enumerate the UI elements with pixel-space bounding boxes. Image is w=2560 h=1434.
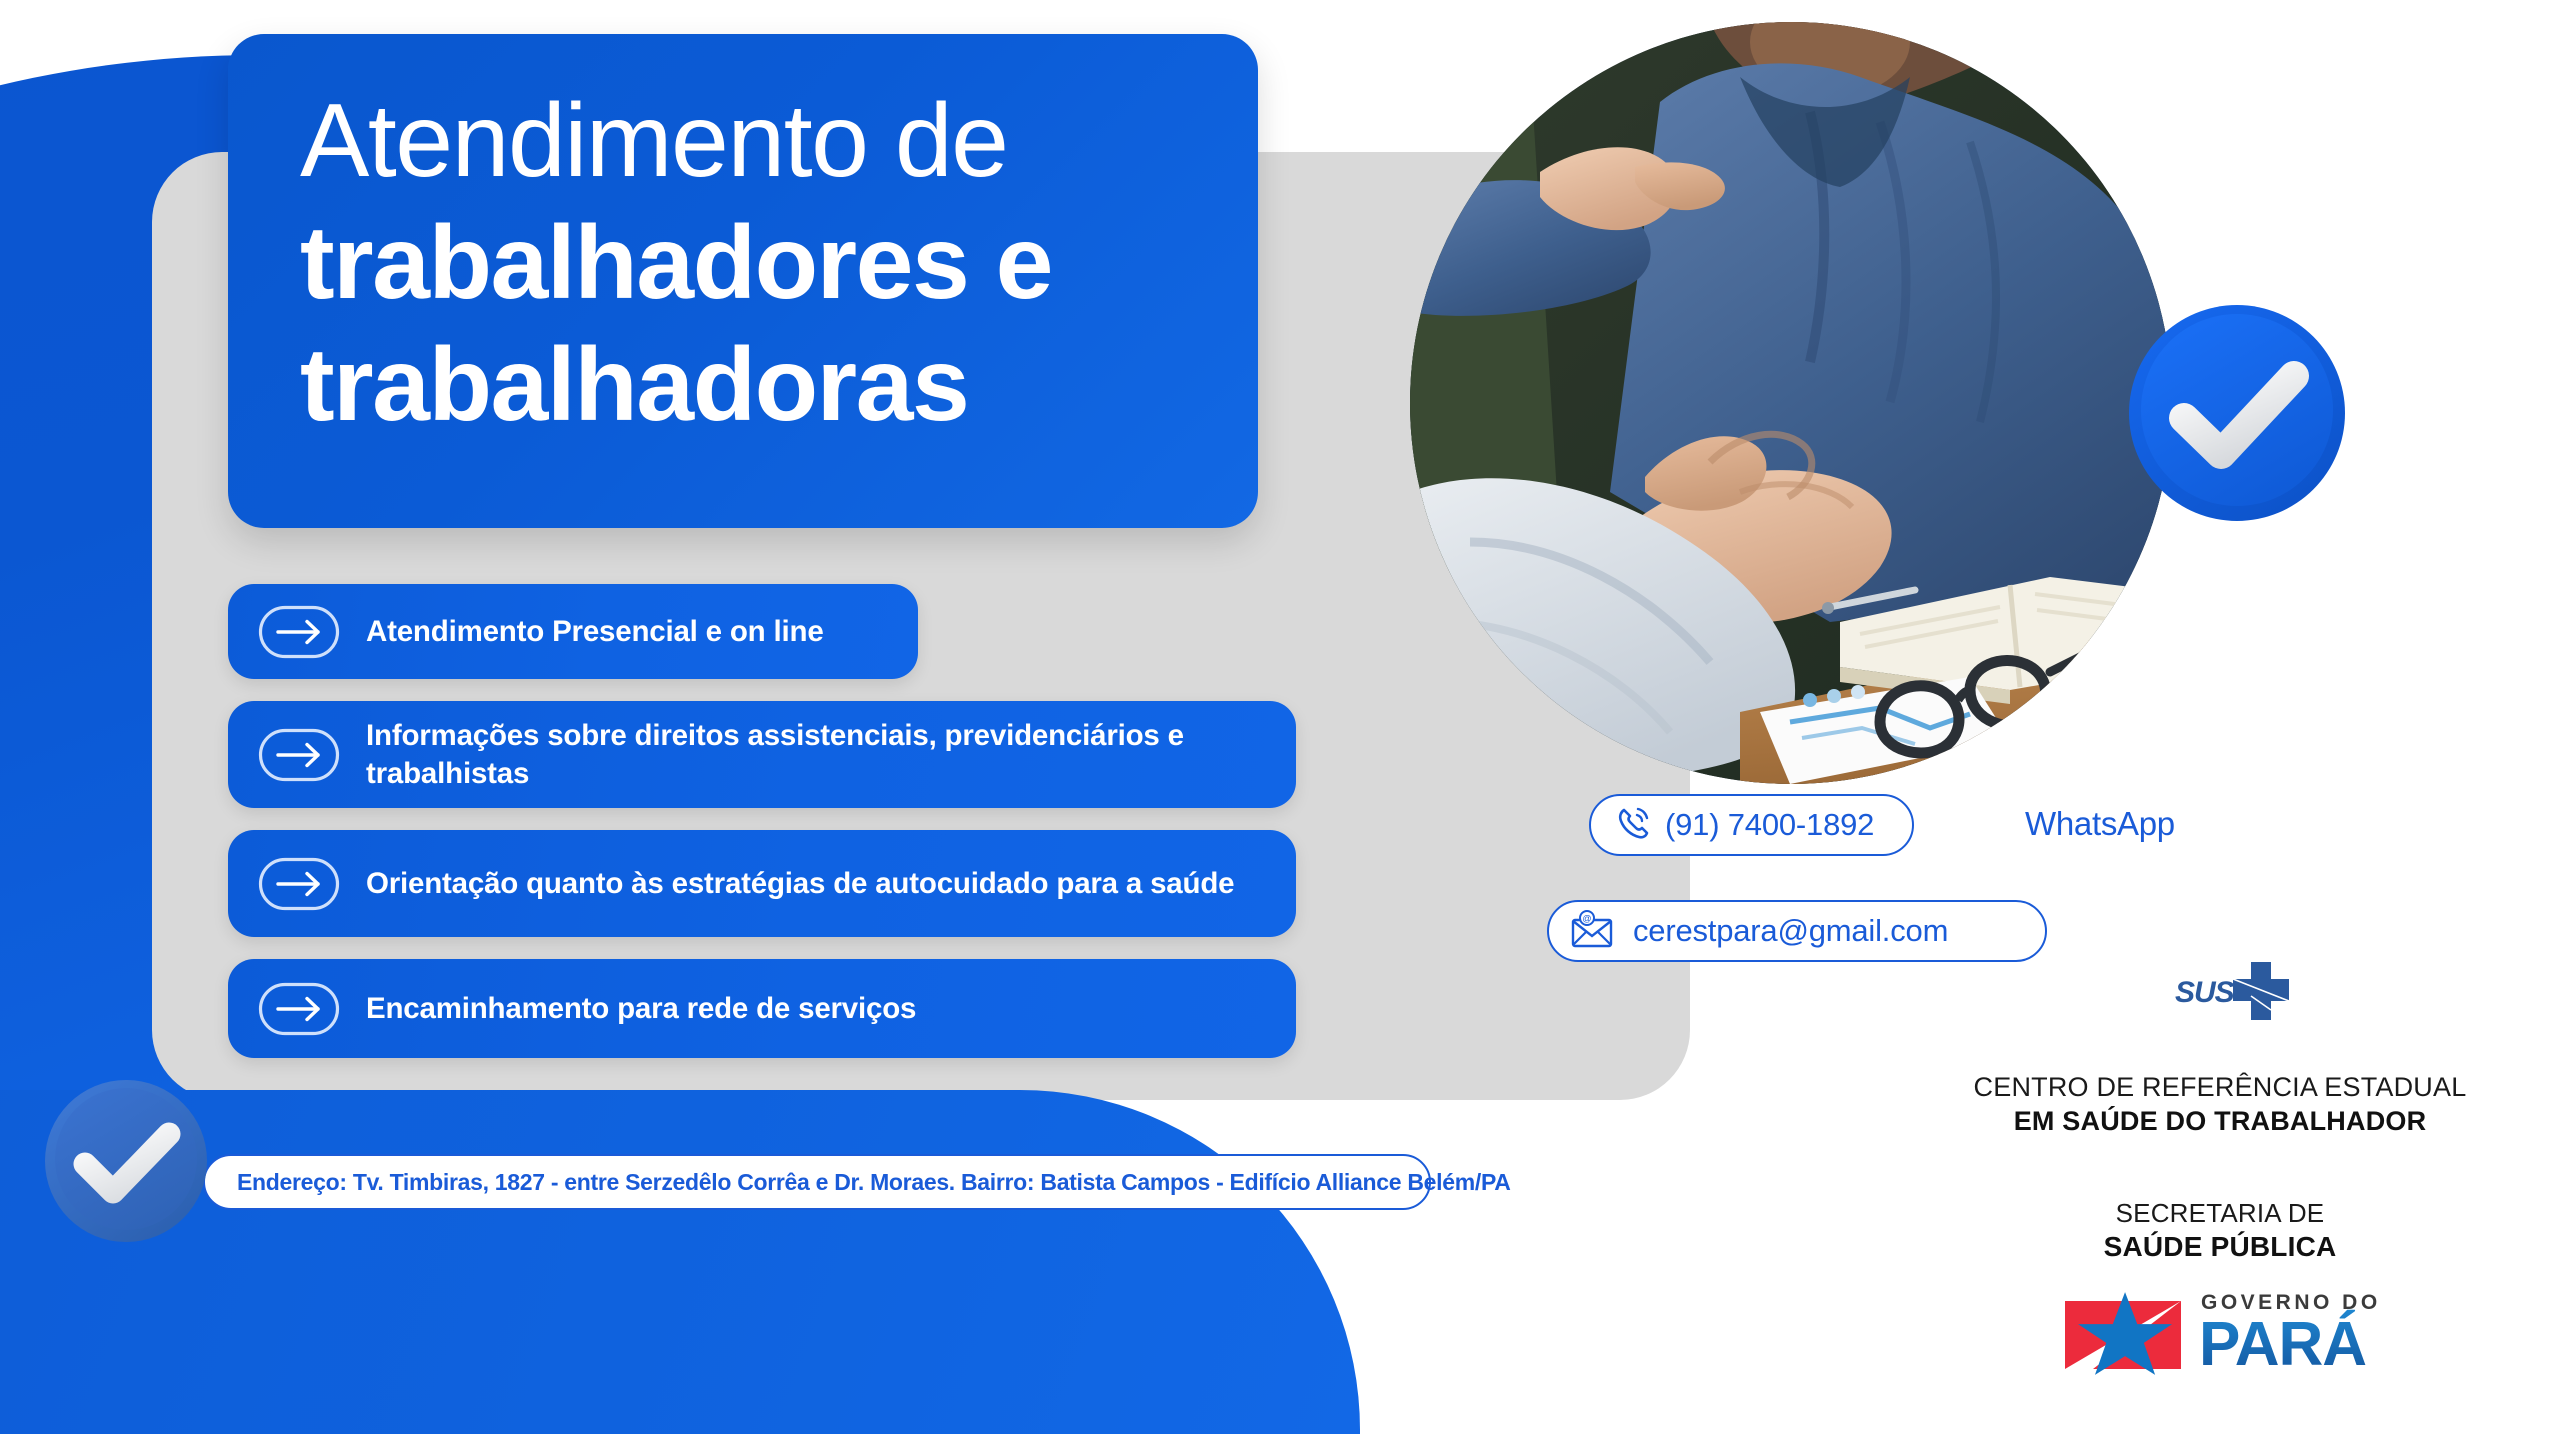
whatsapp-label: WhatsApp [2025,805,2175,843]
phone-number: (91) 7400-1892 [1665,807,1874,843]
sespa-name-block: SECRETARIA DE SAÚDE PÚBLICA [1960,1198,2480,1263]
sus-logo: SUS [2175,962,2311,1024]
arrow-right-icon [258,982,340,1036]
address-text: Endereço: Tv. Timbiras, 1827 - entre Ser… [237,1169,1511,1196]
sespa-line-2: SAÚDE PÚBLICA [1960,1231,2480,1263]
poster-canvas: Atendimento de trabalhadores e trabalhad… [0,0,2560,1434]
title-line-3: trabalhadoras [300,332,1258,438]
email-address: cerestpara@gmail.com [1633,913,1948,949]
services-list: Atendimento Presencial e on line Informa… [228,584,1308,1080]
service-label: Orientação quanto às estratégias de auto… [366,865,1234,903]
address-bar: Endereço: Tv. Timbiras, 1827 - entre Ser… [203,1154,1431,1210]
consultation-photo [1410,22,2172,784]
service-item-1[interactable]: Atendimento Presencial e on line [228,584,918,679]
title-card: Atendimento de trabalhadores e trabalhad… [228,34,1258,528]
governo-do-para-logo: GOVERNO DO PARÁ [2063,1283,2418,1375]
cerest-line-2: EM SAÚDE DO TRABALHADOR [1960,1106,2480,1137]
check-circle-icon [2126,302,2348,524]
service-item-4[interactable]: Encaminhamento para rede de serviços [228,959,1296,1058]
service-label: Encaminhamento para rede de serviços [366,990,916,1028]
envelope-at-icon: @ [1571,910,1615,953]
sespa-line-1: SECRETARIA DE [1960,1198,2480,1229]
svg-text:@: @ [1582,913,1591,923]
service-label: Informações sobre direitos assistenciais… [366,717,1262,793]
title-line-1: Atendimento de [300,88,1258,194]
cerest-line-1: CENTRO DE REFERÊNCIA ESTADUAL [1960,1072,2480,1103]
arrow-right-icon [258,605,340,659]
phone-call-icon [1613,803,1653,848]
cerest-name-block: CENTRO DE REFERÊNCIA ESTADUAL EM SAÚDE D… [1960,1072,2480,1137]
email-contact-pill[interactable]: @ cerestpara@gmail.com [1547,900,2047,962]
arrow-right-icon [258,728,340,782]
svg-text:PARÁ: PARÁ [2199,1310,2366,1375]
service-item-3[interactable]: Orientação quanto às estratégias de auto… [228,830,1296,937]
svg-text:SUS: SUS [2175,976,2235,1009]
check-circle-icon [43,1078,209,1244]
service-label: Atendimento Presencial e on line [366,613,824,651]
arrow-right-icon [258,857,340,911]
title-line-2: trabalhadores e [300,210,1258,316]
service-item-2[interactable]: Informações sobre direitos assistenciais… [228,701,1296,808]
phone-contact-pill[interactable]: (91) 7400-1892 [1589,794,1914,856]
